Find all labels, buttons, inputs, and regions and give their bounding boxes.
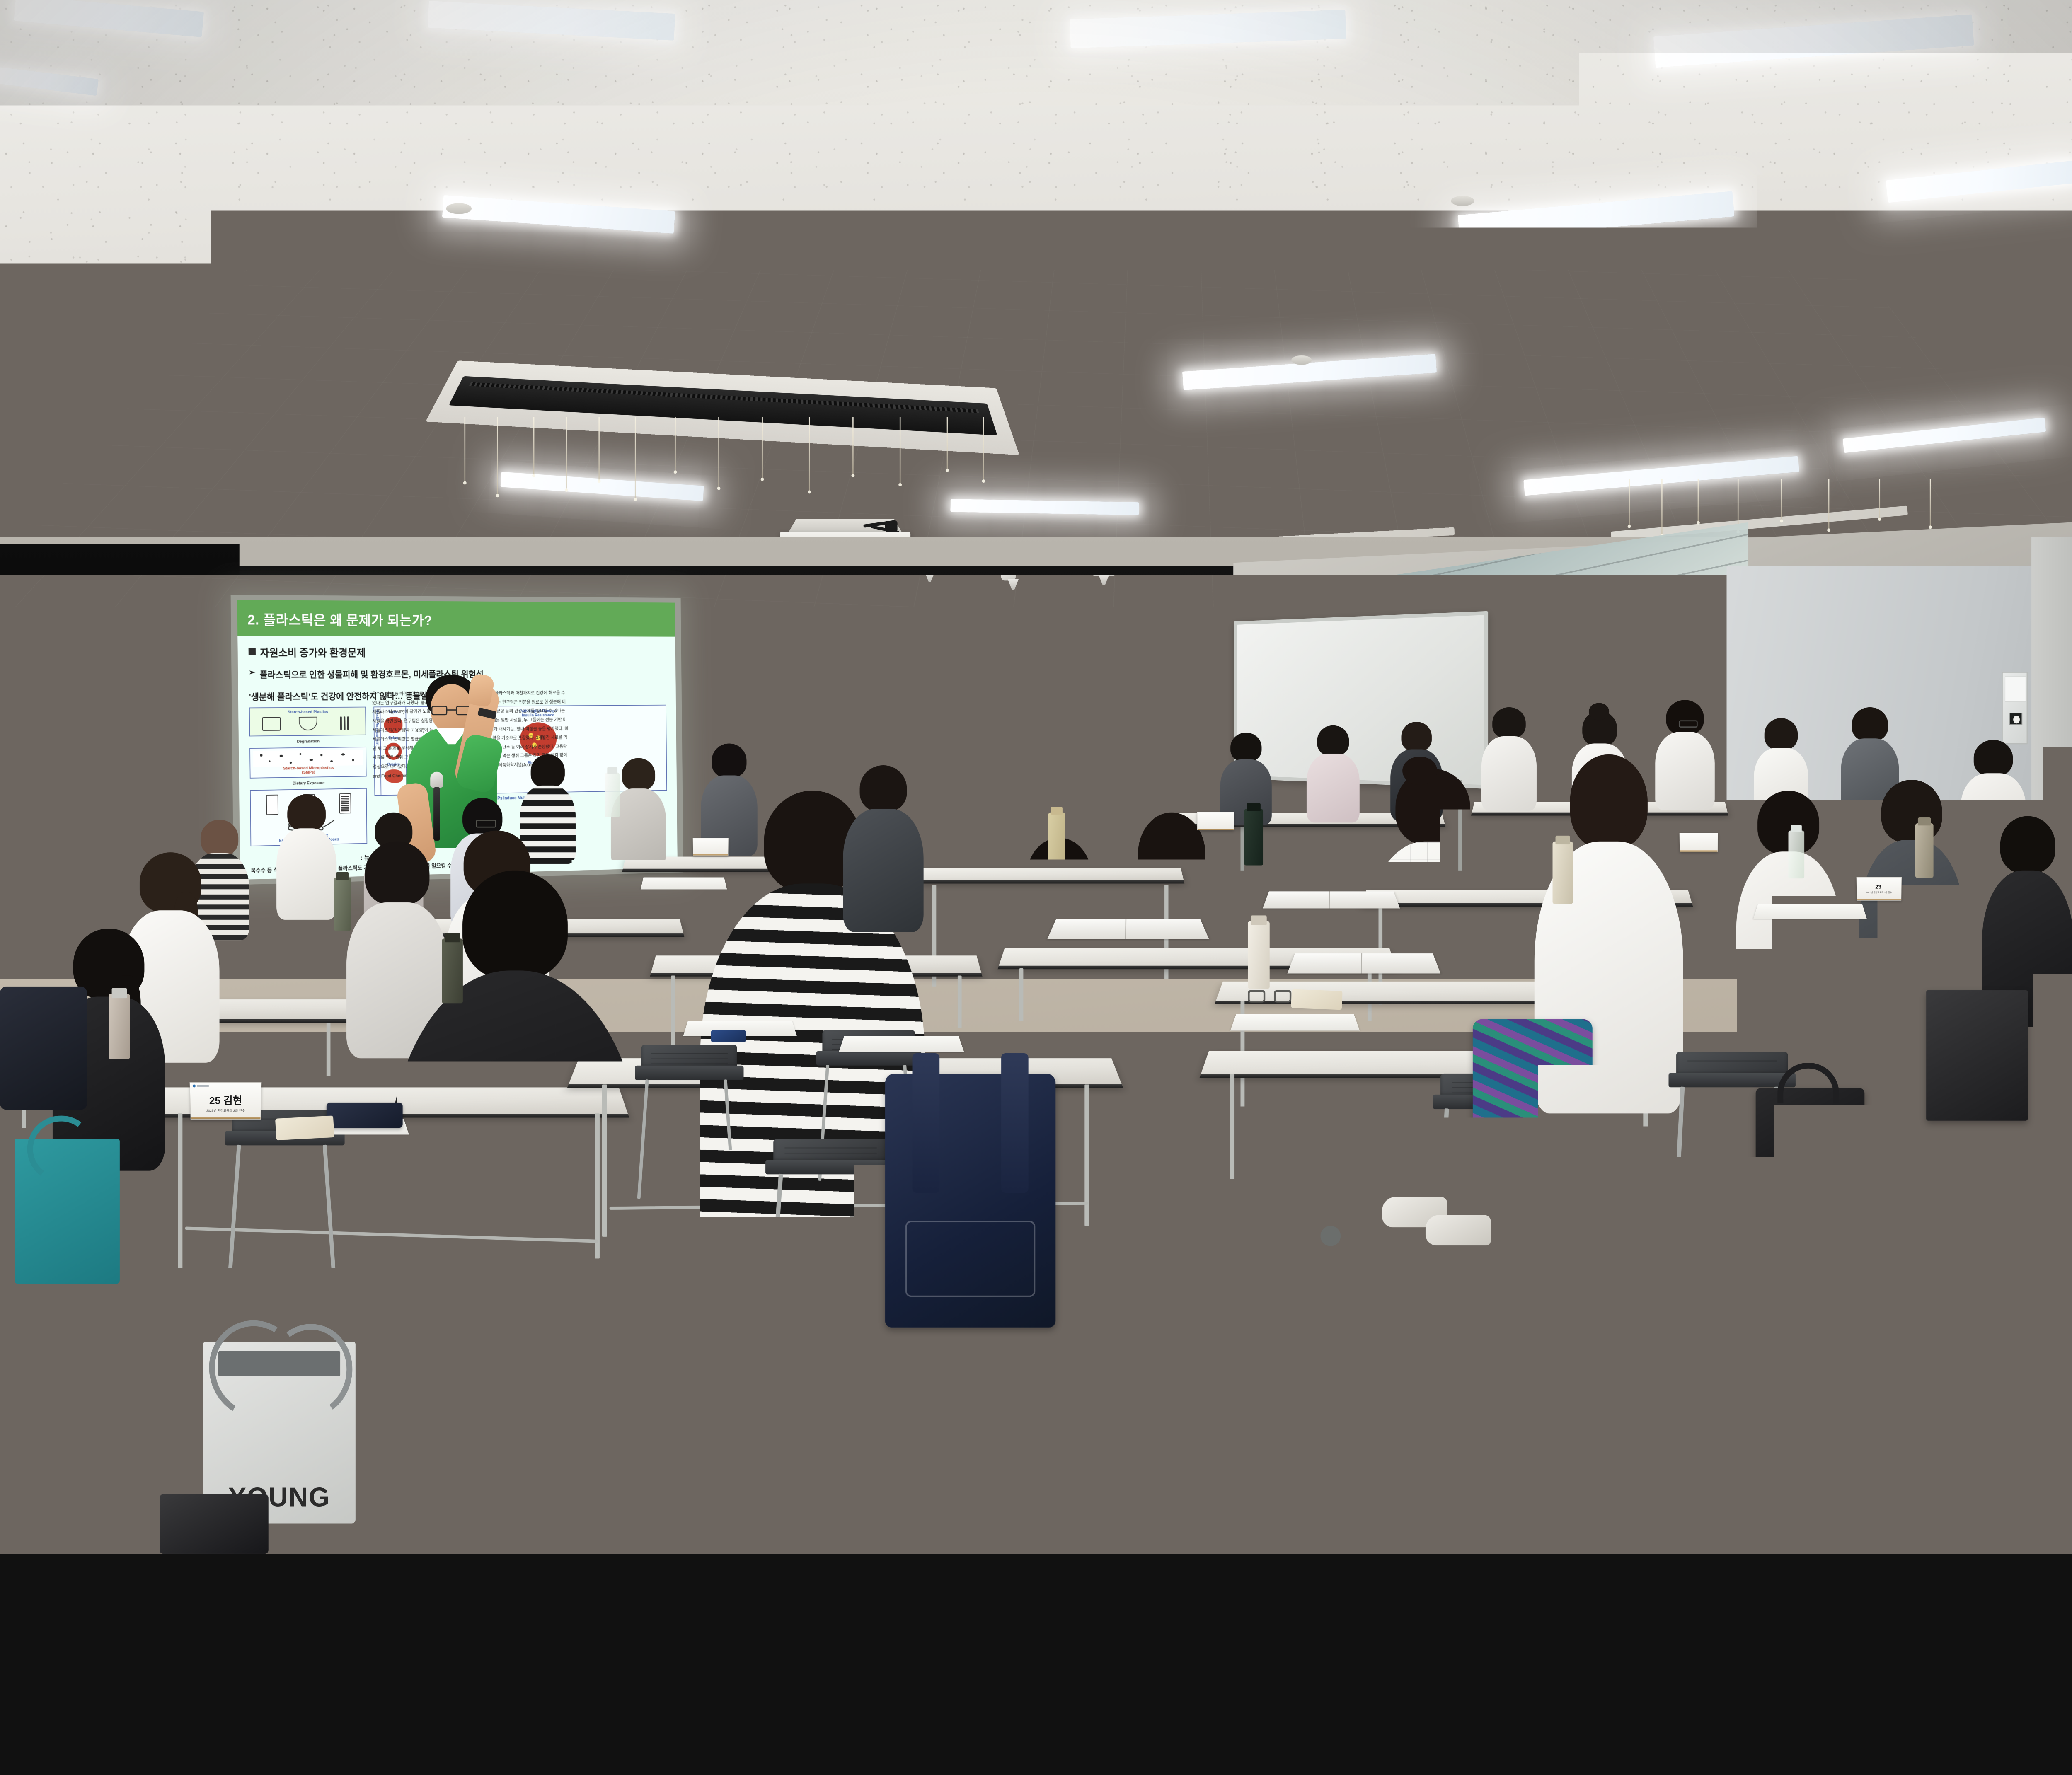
- logo-dot-icon: [1018, 904, 1020, 907]
- chair-caster: [1320, 1226, 1341, 1246]
- chair-legs: [635, 1079, 744, 1123]
- vial-icon: [339, 793, 351, 814]
- placard-name: [736, 933, 738, 940]
- sneaker: [1426, 1215, 1491, 1245]
- attendee-hair: [462, 871, 568, 979]
- logo-wordmark: [1021, 905, 1031, 907]
- attendee-hair: [712, 743, 746, 777]
- placard-base: [1680, 850, 1718, 851]
- slide-title: 2. 플라스틱은 왜 문제가 되는가?: [237, 600, 675, 637]
- backpack-strap: [913, 1053, 940, 1193]
- chair-legs: [1719, 1007, 1828, 1050]
- handout: [1753, 904, 1867, 919]
- thermos: [442, 938, 463, 1003]
- chair[interactable]: [1335, 994, 1440, 1117]
- phone[interactable]: [711, 1030, 746, 1042]
- chair-back: [1726, 972, 1822, 995]
- placard-name: 23: [1875, 884, 1883, 890]
- bottle-cap: [1051, 807, 1063, 815]
- bowl-icon: [299, 717, 317, 730]
- placard-logo: [1018, 904, 1031, 907]
- thermos-cap: [112, 988, 127, 998]
- name-placard: 25 김현 2025년 환경교육과 3급 연수: [190, 1082, 262, 1120]
- presenter-microphone: [430, 772, 443, 841]
- placard-base: [1857, 899, 1901, 900]
- chair-legs: [225, 1145, 345, 1188]
- slide-bullet-1-text: 자원소비 증가와 환경문제: [260, 645, 366, 660]
- attendee-hair: [287, 794, 326, 831]
- sandal: [446, 1483, 526, 1518]
- attendee-hair: [1974, 740, 2013, 776]
- attendee-hair: [2000, 816, 2055, 873]
- figure-microplastic-specks: [253, 750, 363, 767]
- name-placard: [1883, 812, 1919, 829]
- handout: [839, 1036, 964, 1052]
- placard-logo: [193, 1084, 209, 1087]
- attendee-top: [843, 809, 923, 932]
- placard-base: [1198, 829, 1234, 830]
- backpack-pocket: [1487, 1127, 1578, 1182]
- placard-base: [1390, 863, 1429, 865]
- attendee: [1110, 813, 1234, 1103]
- backpack-strap: [1001, 1053, 1029, 1193]
- name-placard: 23 2025년 환경교육과 3급 연수: [1857, 877, 1902, 901]
- chair-caster: [1226, 1190, 1246, 1209]
- attendee-hair: [1317, 725, 1349, 756]
- placard-base: [191, 1117, 260, 1119]
- sneaker: [776, 1386, 863, 1425]
- attendee-top: [996, 770, 1050, 846]
- open-book: [1287, 953, 1440, 973]
- plastic-bag: [160, 1494, 269, 1554]
- tissue: [275, 1115, 334, 1140]
- arrow-bullet-icon: ➢: [249, 667, 255, 677]
- thermos-cap: [1251, 915, 1267, 925]
- lecture-hall-photo: EPSON 2. 플라스틱은 왜: [0, 0, 2072, 1554]
- thermos: [109, 994, 130, 1059]
- attendee: [994, 740, 1052, 852]
- figure-caption-degradation: Degradation: [249, 739, 366, 744]
- presenter-glasses: [431, 706, 472, 715]
- chair-caster: [1535, 1139, 1552, 1156]
- wall-control-panel[interactable]: [2002, 672, 2028, 744]
- attendee-hair-bun: [1589, 703, 1609, 720]
- logo-wordmark: [197, 1085, 209, 1087]
- water-bottle: [1788, 831, 1804, 879]
- tote-bag: [15, 1139, 120, 1284]
- paper-bag-handle[interactable]: [1901, 1028, 1923, 1038]
- attendee-hair: [820, 736, 852, 767]
- sneaker: [871, 1364, 954, 1401]
- placard-name: [1900, 819, 1901, 823]
- attendee-hair: [860, 765, 907, 812]
- name-placard: [1389, 844, 1429, 865]
- slide-bullet-1: 자원소비 증가와 환경문제: [249, 645, 666, 660]
- placard-name: 21 정다혜: [1027, 911, 1059, 921]
- chair-legs: [1335, 1028, 1440, 1072]
- thermos: [334, 878, 351, 931]
- attendee: [385, 871, 646, 1415]
- backpack-pocket: [905, 1221, 1035, 1297]
- cutlery-icon: [335, 716, 353, 730]
- figure-plastic-icons: [253, 714, 363, 733]
- name-placard: [1197, 812, 1234, 830]
- chair-seat: [816, 1051, 922, 1066]
- bottle-highlight: [258, 1054, 262, 1110]
- attendee-glasses: [476, 820, 496, 827]
- placard-name: [1215, 819, 1216, 823]
- figure-caption-dietary-exposure: Dietary Exposure: [250, 780, 367, 786]
- chair-legs: [765, 1174, 896, 1217]
- backpack: [1473, 1019, 1593, 1204]
- av-rack: [40, 784, 141, 907]
- open-book: [1047, 919, 1209, 939]
- attendee-hair: [1138, 813, 1205, 896]
- smoke-detector: [1494, 239, 1515, 249]
- chair-back: [773, 1139, 888, 1162]
- bottle-cap: [258, 1039, 275, 1051]
- attendee: [276, 794, 337, 932]
- attendee-hair: [1852, 707, 1888, 741]
- placard-base: [714, 947, 760, 948]
- thermos: [1248, 921, 1270, 989]
- attendee-hair: [201, 820, 238, 856]
- bottle-cap: [1791, 825, 1802, 832]
- attendee-glasses: [1679, 720, 1698, 728]
- thermos: [1244, 809, 1263, 866]
- container-icon: [262, 717, 281, 731]
- attendee-top: [1307, 754, 1360, 822]
- shopping-bag: [1926, 990, 2028, 1121]
- attendee-hair: [622, 758, 655, 791]
- square-bullet-icon: [249, 648, 256, 655]
- hanging-strings: [443, 417, 1009, 512]
- eyeglasses: [1248, 990, 1291, 1003]
- backpack-small: [0, 987, 87, 1110]
- paper-bag-handle[interactable]: [1856, 1028, 1878, 1038]
- chair[interactable]: [765, 1139, 896, 1299]
- chair-seat: [765, 1160, 896, 1174]
- attendee-hair: [1230, 733, 1261, 762]
- chair-back: [1676, 1052, 1788, 1075]
- water-bottle: [605, 772, 620, 817]
- thermos: [1552, 842, 1573, 904]
- panel-label: [2005, 677, 2026, 702]
- tissue: [1291, 989, 1342, 1010]
- placard-name: 25 김현: [209, 1093, 242, 1108]
- attendee-hair-bun: [1402, 757, 1437, 785]
- thermos-cap: [1247, 803, 1261, 811]
- smoke-detector: [1451, 196, 1474, 206]
- figure-microplastics-box: Starch-based Microplastics (SMPs): [249, 747, 366, 779]
- thermos: [1915, 823, 1934, 878]
- chair-back: [1341, 994, 1434, 1017]
- handout: [641, 878, 727, 890]
- placard-name: [710, 845, 711, 849]
- placard-subtitle: 2025년 환경교육과 3급 연수: [206, 1108, 245, 1113]
- placard-subtitle: 2025년 환경교육과 3급 연수: [1866, 891, 1892, 894]
- backpack: [885, 1074, 1055, 1328]
- attendee-hair: [1492, 707, 1526, 738]
- attendee-top: [276, 828, 336, 920]
- attendee-hair: [531, 754, 565, 788]
- attendee-top: [388, 970, 642, 1384]
- placard-base: [1883, 828, 1918, 829]
- placard-base: [693, 854, 728, 856]
- open-book: [1263, 891, 1400, 908]
- chair-seat: [1669, 1073, 1796, 1087]
- attendee-hair: [1765, 718, 1798, 750]
- placard-name: [1409, 852, 1410, 858]
- attendee: [1306, 725, 1360, 827]
- chair-seat: [1719, 993, 1828, 1008]
- logo-dot-icon: [193, 1084, 196, 1087]
- thermos-cap: [336, 872, 349, 880]
- water-bottle: [254, 1045, 279, 1124]
- attendee-hair: [1666, 700, 1704, 735]
- chair-seat: [635, 1066, 744, 1080]
- pencil-case: [327, 1103, 403, 1128]
- av-table: [0, 827, 58, 834]
- attendee: [842, 765, 925, 954]
- chair-seat: [1825, 979, 1934, 993]
- chair-back: [1831, 958, 1927, 981]
- name-placard: [693, 838, 729, 856]
- chair[interactable]: [635, 1045, 744, 1175]
- thermos-cap: [1918, 817, 1931, 825]
- attendee-hair: [1006, 740, 1040, 773]
- handout: [1230, 1014, 1360, 1031]
- attendee-hair: [1100, 729, 1134, 762]
- bottle-cap: [607, 767, 617, 774]
- thermos-cap: [1556, 836, 1570, 844]
- smoke-detector: [446, 203, 472, 214]
- av-rack-top: [44, 775, 87, 786]
- panel-indicator-window: [2009, 713, 2023, 725]
- chair-back: [641, 1045, 737, 1068]
- smoke-detector: [1291, 355, 1312, 365]
- figure-starch-plastics-box: Starch-based Plastics: [249, 707, 366, 737]
- name-placard: [714, 924, 760, 949]
- water-bottle: [1048, 813, 1065, 863]
- sandal: [406, 1444, 486, 1478]
- attendee-hair: [1401, 722, 1432, 752]
- name-placard: [1680, 833, 1718, 852]
- placard-name: [1698, 840, 1699, 845]
- podium-microphone: [1004, 678, 1006, 742]
- thermos-cap: [445, 933, 460, 942]
